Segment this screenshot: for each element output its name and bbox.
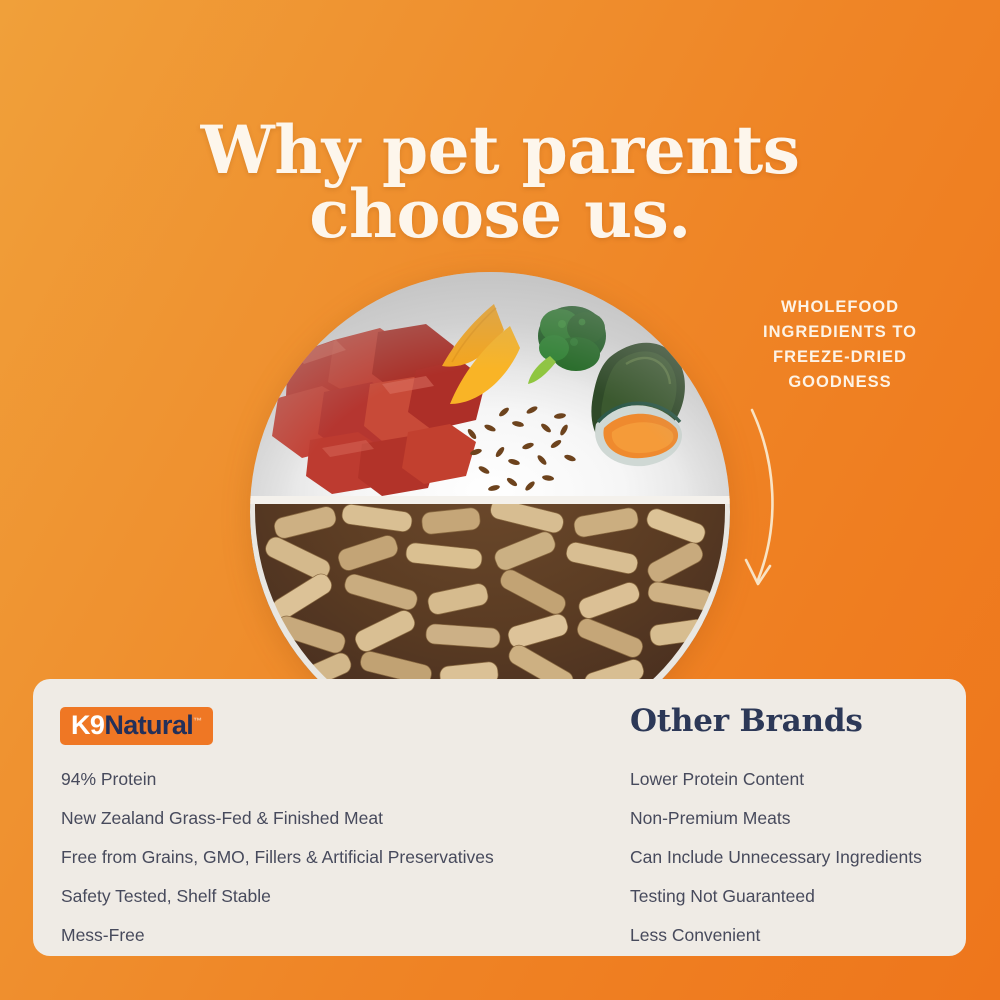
other-brands-feature-list: Lower Protein Content Non-Premium Meats … (630, 771, 960, 966)
ingredient-plate (250, 272, 730, 500)
caption-line-1: WHOLEFOOD (706, 295, 974, 320)
list-item: Free from Grains, GMO, Fillers & Artific… (61, 849, 621, 867)
list-item: Can Include Unnecessary Ingredients (630, 849, 960, 867)
caption-line-3: FREEZE-DRIED (706, 345, 974, 370)
comparison-panel: K9Natural™ Other Brands 94% Protein New … (33, 679, 966, 956)
logo-k9-text: K9 (71, 710, 104, 740)
green-lipped-mussel (574, 328, 712, 488)
list-item: Testing Not Guaranteed (630, 888, 960, 906)
list-item: Safety Tested, Shelf Stable (61, 888, 621, 906)
headline-line-2: choose us. (0, 182, 1000, 246)
k9-natural-logo: K9Natural™ (60, 707, 213, 745)
k9-feature-list: 94% Protein New Zealand Grass-Fed & Fini… (61, 771, 621, 966)
infographic-canvas: Why pet parents choose us. WHOLEFOOD ING… (0, 0, 1000, 1000)
list-item: Lower Protein Content (630, 771, 960, 789)
trademark-symbol: ™ (193, 716, 202, 726)
pumpkin-slices (432, 300, 544, 418)
list-item: Non-Premium Meats (630, 810, 960, 828)
wholefood-caption: WHOLEFOOD INGREDIENTS TO FREEZE-DRIED GO… (706, 295, 974, 395)
raw-meat-cubes (250, 272, 730, 500)
list-item: 94% Protein (61, 771, 621, 789)
list-item: Less Convenient (630, 927, 960, 945)
logo-natural-text: Natural (104, 710, 193, 740)
list-item: New Zealand Grass-Fed & Finished Meat (61, 810, 621, 828)
list-item: Mess-Free (61, 927, 621, 945)
caption-line-2: INGREDIENTS TO (706, 320, 974, 345)
broccoli-floret (516, 298, 612, 404)
flax-seeds (460, 394, 580, 498)
page-title: Why pet parents choose us. (0, 118, 1000, 246)
other-brands-heading: Other Brands (630, 703, 863, 739)
